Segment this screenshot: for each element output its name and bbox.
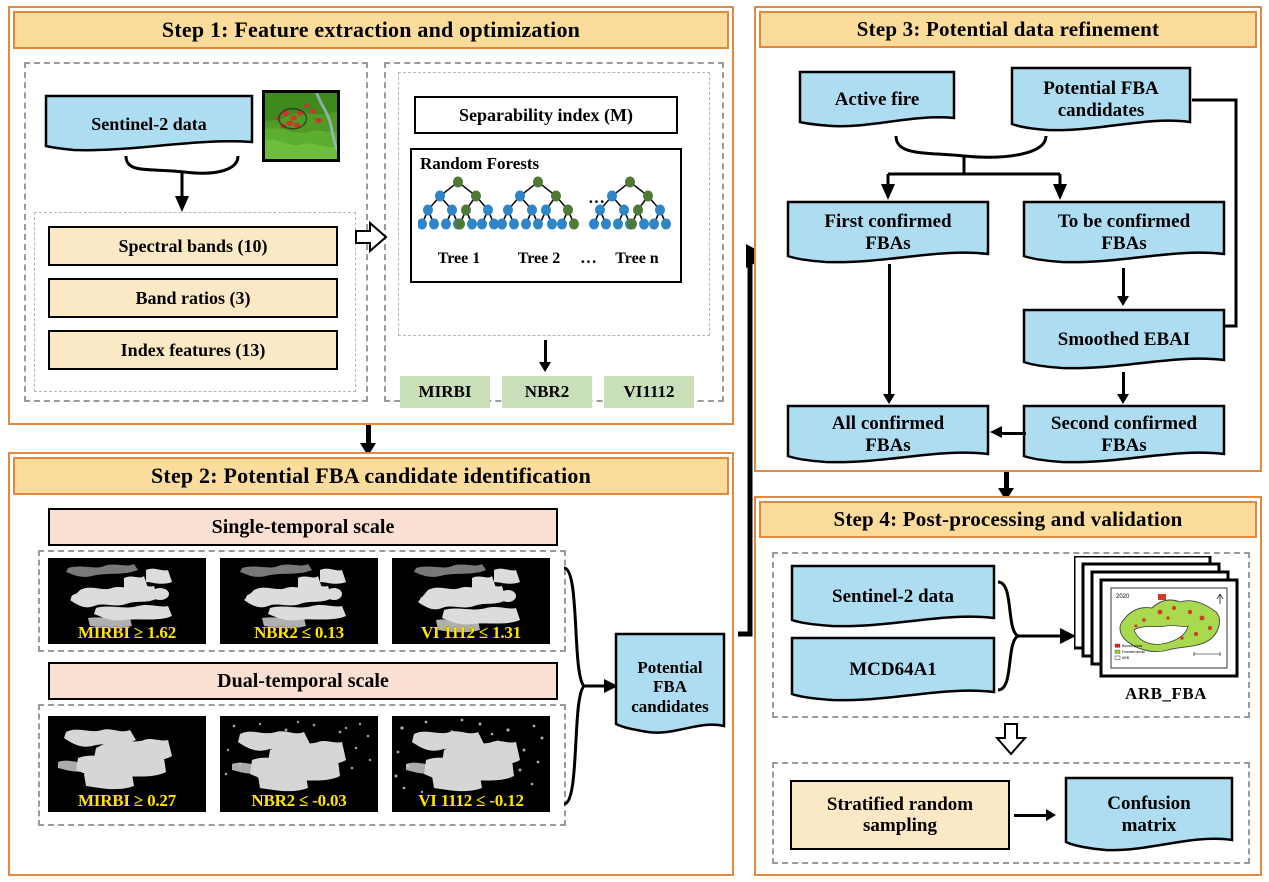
step1-transition-hollow-arrow: [354, 220, 388, 254]
step3-split-connector: [856, 130, 1176, 210]
trees-ellipsis-top: ···: [588, 192, 605, 211]
potential-fba-candidates-input: Potential FBA candidates: [1010, 66, 1192, 134]
stratified-random-sampling: Stratified random sampling: [790, 780, 1010, 850]
first-confirmed-fbas-label: First confirmed FBAs: [786, 211, 990, 255]
tree-2-label: Tree 2: [504, 250, 574, 268]
first-confirmed-fbas: First confirmed FBAs: [786, 200, 990, 266]
input-line-1: Potential FBA: [1043, 78, 1159, 99]
threshold-label: NBR2 ≤ -0.03: [220, 791, 378, 811]
line-2: FBAs: [1101, 233, 1146, 254]
step1-merge-connector: [110, 150, 310, 216]
random-forests-trees-graphic: [418, 176, 676, 248]
burn-image-single-mirbi: MIRBI ≥ 1.62: [48, 558, 206, 644]
confusion-matrix: Confusion matrix: [1064, 776, 1234, 854]
single-temporal-label: Single-temporal scale: [212, 516, 395, 538]
smoothed-ebai: Smoothed EBAI: [1022, 308, 1226, 372]
svg-text:Forested areas: Forested areas: [1122, 650, 1145, 654]
line-1: Confusion: [1107, 793, 1190, 814]
step2-panel: Step 2: Potential FBA candidate identifi…: [8, 452, 734, 876]
step4-mcd64a1-data: MCD64A1: [790, 636, 996, 704]
input-line-2: candidates: [1058, 100, 1145, 121]
line-2: FBAs: [865, 233, 910, 254]
all-confirmed-fbas-label: All confirmed FBAs: [786, 413, 990, 457]
arb-fba-map-stack: 2020 Burned areas Forested areas ARB: [1074, 556, 1240, 680]
step2-title: Step 2: Potential FBA candidate identifi…: [13, 457, 729, 495]
line-2: FBAs: [865, 435, 910, 456]
output-line-1: Potential: [637, 658, 702, 677]
tobeconfirmed-to-ebai-arrowhead: [1117, 296, 1129, 306]
sampling-to-confusion-line: [1014, 814, 1048, 817]
line-2: matrix: [1122, 815, 1177, 836]
dual-temporal-label: Dual-temporal scale: [217, 670, 389, 692]
active-fire-label: Active fire: [798, 89, 956, 111]
rf-to-indices-line: [544, 340, 547, 364]
flowchart-root: Step 1: Feature extraction and optimizat…: [0, 0, 1269, 882]
step4-mcd64a1-label: MCD64A1: [790, 659, 996, 681]
potential-fba-candidates-input-label: Potential FBA candidates: [1010, 78, 1192, 122]
first-to-all-line: [888, 264, 891, 398]
output-line-3: candidates: [631, 697, 708, 716]
dual-temporal-header: Dual-temporal scale: [48, 662, 558, 700]
burn-image-single-vi1112: VI 1112 ≤ 1.31: [392, 558, 550, 644]
line-1: Second confirmed: [1051, 413, 1197, 434]
burn-image-dual-mirbi: MIRBI ≥ 0.27: [48, 716, 206, 812]
smoothed-ebai-label: Smoothed EBAI: [1022, 329, 1226, 351]
sentinel2-data-label: Sentinel-2 data: [44, 114, 254, 135]
threshold-label: NBR2 ≤ 0.13: [220, 623, 378, 643]
svg-text:Burned areas: Burned areas: [1122, 644, 1143, 648]
feature-box-index-features: Index features (13): [48, 330, 338, 370]
burn-image-single-nbr2: NBR2 ≤ 0.13: [220, 558, 378, 644]
second-confirmed-fbas: Second confirmed FBAs: [1022, 404, 1226, 466]
line-1: First confirmed: [824, 211, 951, 232]
second-to-all-arrowhead: [990, 426, 1002, 438]
line-1: To be confirmed: [1058, 211, 1190, 232]
sampling-line-1: Stratified random: [827, 794, 973, 815]
feature-label: Spectral bands (10): [118, 236, 267, 256]
threshold-label: VI 1112 ≤ 1.31: [392, 623, 550, 643]
burn-image-dual-nbr2: NBR2 ≤ -0.03: [220, 716, 378, 812]
separability-index-box: Separability index (M): [414, 96, 678, 134]
step4-title: Step 4: Post-processing and validation: [759, 501, 1257, 538]
feature-box-band-ratios: Band ratios (3): [48, 278, 338, 318]
index-label: MIRBI: [419, 382, 472, 401]
selected-index-nbr2: NBR2: [502, 376, 592, 408]
step4-sentinel2-data: Sentinel-2 data: [790, 564, 996, 630]
map-year-label: 2020: [1116, 594, 1130, 600]
first-to-all-arrowhead: [883, 394, 895, 404]
separability-index-label: Separability index (M): [459, 105, 633, 125]
single-temporal-header: Single-temporal scale: [48, 508, 558, 546]
random-forests-box: Random Forests: [410, 148, 682, 283]
confusion-matrix-label: Confusion matrix: [1064, 793, 1234, 837]
feature-box-spectral-bands: Spectral bands (10): [48, 226, 338, 266]
feature-label: Band ratios (3): [135, 288, 250, 308]
output-line-2: FBA: [653, 677, 687, 696]
potential-fba-candidates-label: Potential FBA candidates: [614, 658, 726, 717]
svg-text:ARB: ARB: [1122, 656, 1130, 660]
line-1: All confirmed: [832, 413, 944, 434]
index-label: VI1112: [623, 382, 674, 401]
second-confirmed-fbas-label: Second confirmed FBAs: [1022, 413, 1226, 457]
selected-index-mirbi: MIRBI: [400, 376, 490, 408]
arb-fba-label: ARB_FBA: [1096, 684, 1236, 704]
sampling-line-2: sampling: [863, 815, 937, 836]
to-be-confirmed-fbas-label: To be confirmed FBAs: [1022, 211, 1226, 255]
threshold-label: VI 1112 ≤ -0.12: [392, 791, 550, 811]
sampling-to-confusion-arrowhead: [1046, 809, 1056, 821]
selected-index-vi1112: VI1112: [604, 376, 694, 408]
random-forests-title: Random Forests: [420, 154, 539, 173]
step2-collect-brace: [558, 564, 598, 814]
potential-fba-candidates-output: Potential FBA candidates: [614, 632, 726, 742]
step4-transition-hollow-arrow: [994, 722, 1028, 756]
sentinel2-data-source: Sentinel-2 data: [44, 94, 254, 154]
step1-panel: Step 1: Feature extraction and optimizat…: [8, 6, 734, 425]
step4-sentinel2-label: Sentinel-2 data: [790, 586, 996, 608]
active-fire-source: Active fire: [798, 70, 956, 130]
step1-title: Step 1: Feature extraction and optimizat…: [13, 11, 729, 49]
threshold-label: MIRBI ≥ 1.62: [48, 623, 206, 643]
tree-1-label: Tree 1: [424, 250, 494, 268]
step3-title: Step 3: Potential data refinement: [759, 11, 1257, 48]
index-label: NBR2: [525, 382, 569, 401]
burn-image-dual-vi1112: VI 1112 ≤ -0.12: [392, 716, 550, 812]
feature-label: Index features (13): [121, 340, 266, 360]
step4-panel: Step 4: Post-processing and validation S…: [754, 496, 1262, 876]
step3-panel: Step 3: Potential data refinement Active…: [754, 6, 1262, 472]
trees-ellipsis-bottom: ···: [580, 252, 597, 271]
threshold-label: MIRBI ≥ 0.27: [48, 791, 206, 811]
all-confirmed-fbas: All confirmed FBAs: [786, 404, 990, 466]
rf-to-indices-arrowhead: [539, 362, 551, 372]
line-2: FBAs: [1101, 435, 1146, 456]
tree-n-label: Tree n: [602, 250, 672, 268]
ebai-to-second-arrowhead: [1117, 394, 1129, 404]
